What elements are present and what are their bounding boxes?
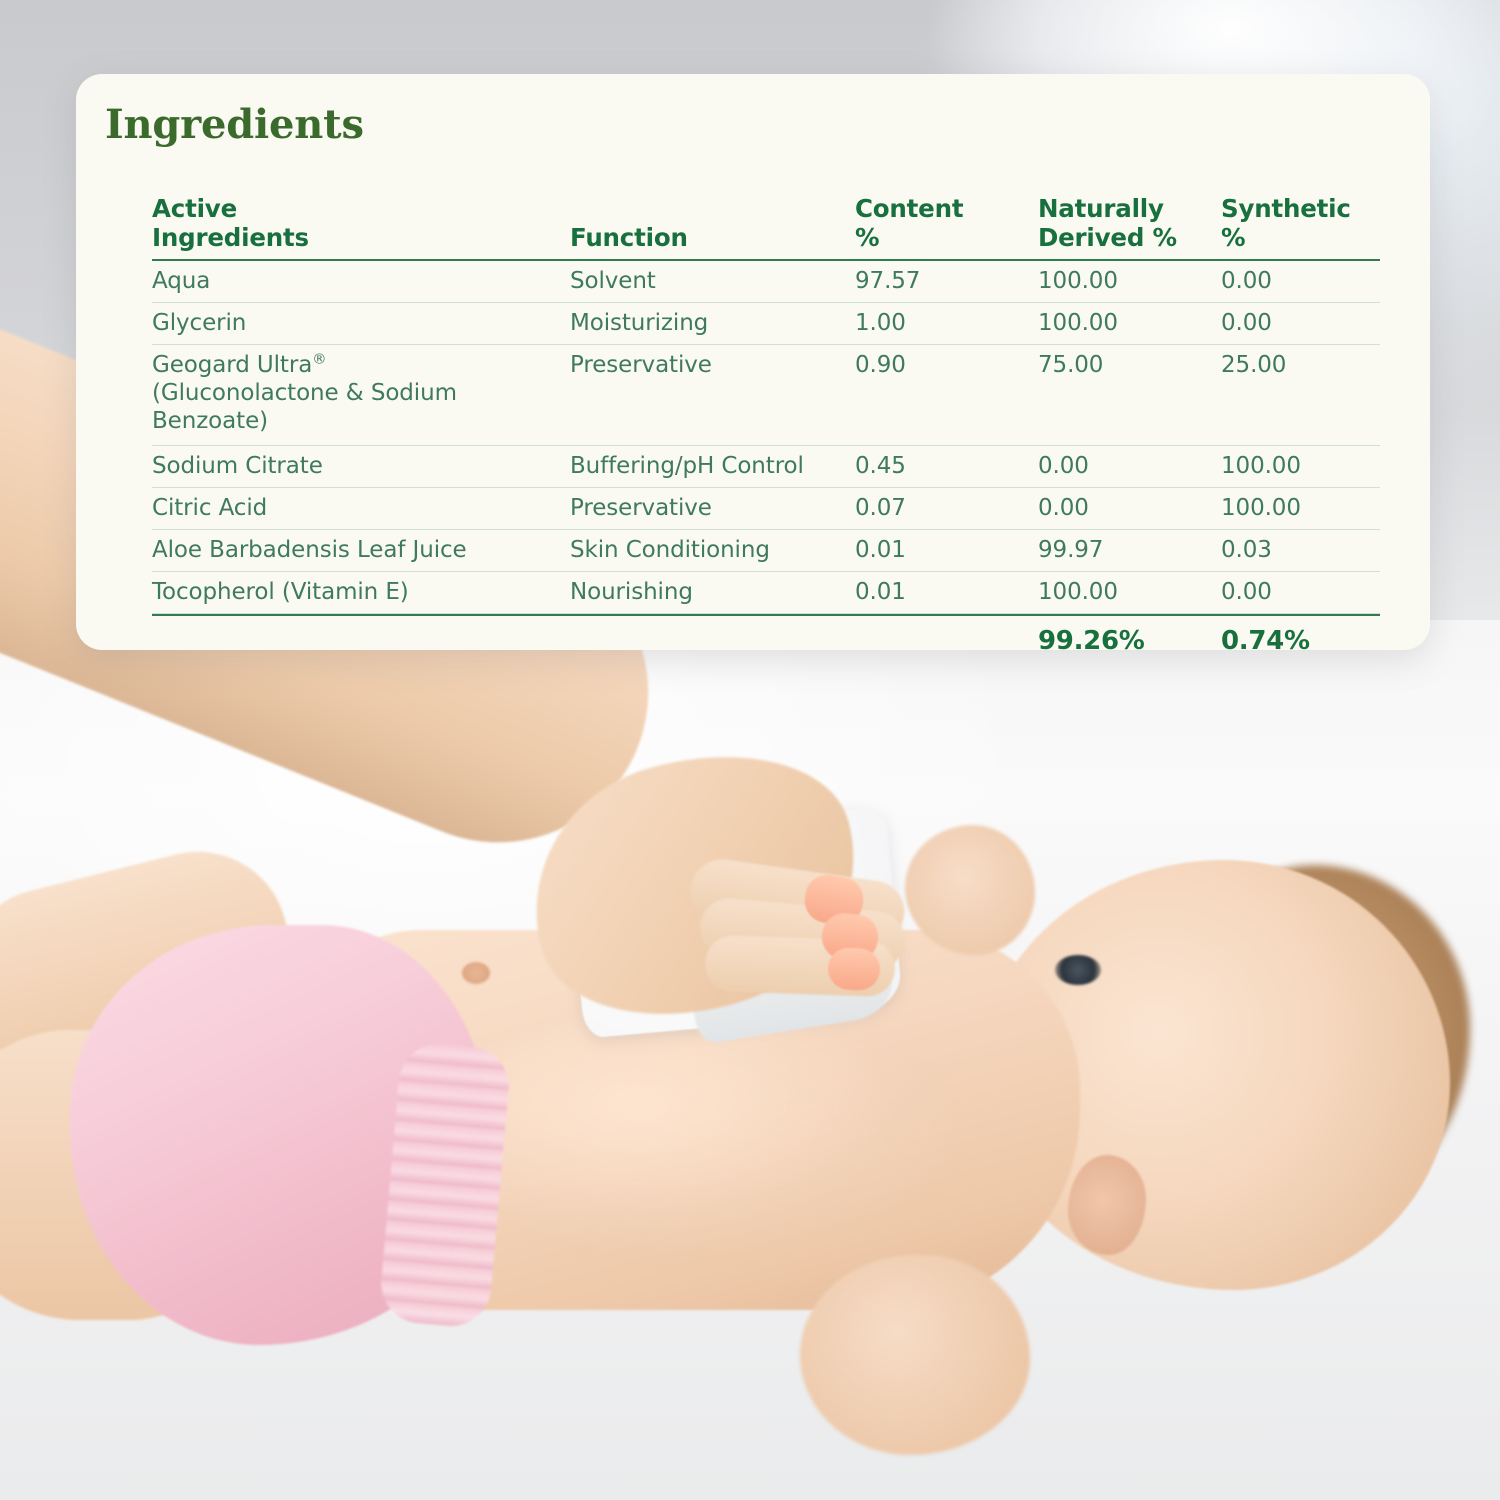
- cell-content-percent: 1.00: [855, 303, 1038, 345]
- cell-naturally-derived-percent: 100.00: [1038, 260, 1221, 303]
- total-naturally-derived-percent: 99.26%: [1038, 615, 1221, 662]
- table-row: Tocopherol (Vitamin E) Nourishing 0.01 1…: [152, 572, 1380, 614]
- header-line-2: Ingredients: [152, 223, 309, 252]
- table-header: Active Ingredients Function Content % Na…: [152, 194, 1380, 260]
- header-line-1: Synthetic: [1221, 194, 1351, 223]
- cell-ingredient-name: Tocopherol (Vitamin E): [152, 572, 570, 614]
- cell-content-percent: 0.01: [855, 572, 1038, 614]
- header-line-2: %: [1221, 223, 1245, 252]
- cell-ingredient-name: Aloe Barbadensis Leaf Juice: [152, 530, 570, 572]
- cell-function: Skin Conditioning: [570, 530, 855, 572]
- header-line-1: Active: [152, 194, 237, 223]
- cell-synthetic-percent: 0.00: [1221, 572, 1380, 614]
- column-header-content-percent: Content %: [855, 194, 1038, 260]
- cell-ingredient-name: Geogard Ultra® (Gluconolactone & Sodium …: [152, 345, 570, 446]
- cell-function: Preservative: [570, 488, 855, 530]
- cell-naturally-derived-percent: 100.00: [1038, 572, 1221, 614]
- cell-ingredient-name: Glycerin: [152, 303, 570, 345]
- cell-synthetic-percent: 100.00: [1221, 446, 1380, 488]
- cell-function: Solvent: [570, 260, 855, 303]
- column-header-function: Function: [570, 194, 855, 260]
- cell-ingredient-name: Sodium Citrate: [152, 446, 570, 488]
- cell-synthetic-percent: 25.00: [1221, 345, 1380, 446]
- header-line-1: Naturally: [1038, 194, 1164, 223]
- cell-ingredient-name: Citric Acid: [152, 488, 570, 530]
- baby-belly-highlight: [430, 1010, 950, 1250]
- cell-content-percent: 97.57: [855, 260, 1038, 303]
- page-title: Ingredients: [105, 101, 364, 148]
- total-synthetic-percent: 0.74%: [1221, 615, 1380, 662]
- totals-spacer-name: [152, 615, 570, 662]
- ingredients-table: Active Ingredients Function Content % Na…: [152, 194, 1380, 662]
- baby-eye: [1055, 955, 1101, 985]
- table-row: Aloe Barbadensis Leaf Juice Skin Conditi…: [152, 530, 1380, 572]
- cell-ingredient-name: Aqua: [152, 260, 570, 303]
- column-header-naturally-derived-percent: Naturally Derived %: [1038, 194, 1221, 260]
- fingernail: [827, 947, 881, 992]
- header-line-2: %: [855, 223, 879, 252]
- cell-content-percent: 0.90: [855, 345, 1038, 446]
- column-header-active-ingredients: Active Ingredients: [152, 194, 570, 260]
- cell-function: Preservative: [570, 345, 855, 446]
- cell-naturally-derived-percent: 0.00: [1038, 488, 1221, 530]
- table-row: Sodium Citrate Buffering/pH Control 0.45…: [152, 446, 1380, 488]
- cell-synthetic-percent: 0.03: [1221, 530, 1380, 572]
- cell-content-percent: 0.45: [855, 446, 1038, 488]
- baby-navel: [462, 962, 490, 984]
- cell-naturally-derived-percent: 0.00: [1038, 446, 1221, 488]
- table-header-row: Active Ingredients Function Content % Na…: [152, 194, 1380, 260]
- baby-fist: [800, 1255, 1030, 1455]
- header-line-1: Content: [855, 194, 963, 223]
- cell-naturally-derived-percent: 100.00: [1038, 303, 1221, 345]
- ingredient-name-primary: Geogard Ultra®: [152, 352, 326, 378]
- cell-content-percent: 0.07: [855, 488, 1038, 530]
- cell-synthetic-percent: 100.00: [1221, 488, 1380, 530]
- page-root: Ingredients Active Ingredients Function …: [0, 0, 1500, 1500]
- header-line-2: Derived %: [1038, 223, 1177, 252]
- table-row: Citric Acid Preservative 0.07 0.00 100.0…: [152, 488, 1380, 530]
- cell-function: Buffering/pH Control: [570, 446, 855, 488]
- cell-naturally-derived-percent: 99.97: [1038, 530, 1221, 572]
- totals-row: 99.26% 0.74%: [152, 615, 1380, 662]
- cell-synthetic-percent: 0.00: [1221, 303, 1380, 345]
- table-row: Aqua Solvent 97.57 100.00 0.00: [152, 260, 1380, 303]
- header-line-1: Function: [570, 223, 688, 252]
- cell-content-percent: 0.01: [855, 530, 1038, 572]
- totals-spacer-function: [570, 615, 855, 662]
- cell-function: Nourishing: [570, 572, 855, 614]
- cell-naturally-derived-percent: 75.00: [1038, 345, 1221, 446]
- totals-spacer-content: [855, 615, 1038, 662]
- table-body: Aqua Solvent 97.57 100.00 0.00 Glycerin …: [152, 260, 1380, 662]
- cell-function: Moisturizing: [570, 303, 855, 345]
- ingredient-name-secondary: (Gluconolactone & Sodium Benzoate): [152, 380, 457, 434]
- table-row: Geogard Ultra® (Gluconolactone & Sodium …: [152, 345, 1380, 446]
- ingredients-card: Ingredients Active Ingredients Function …: [76, 74, 1430, 650]
- column-header-synthetic-percent: Synthetic %: [1221, 194, 1380, 260]
- cell-synthetic-percent: 0.00: [1221, 260, 1380, 303]
- table-row: Glycerin Moisturizing 1.00 100.00 0.00: [152, 303, 1380, 345]
